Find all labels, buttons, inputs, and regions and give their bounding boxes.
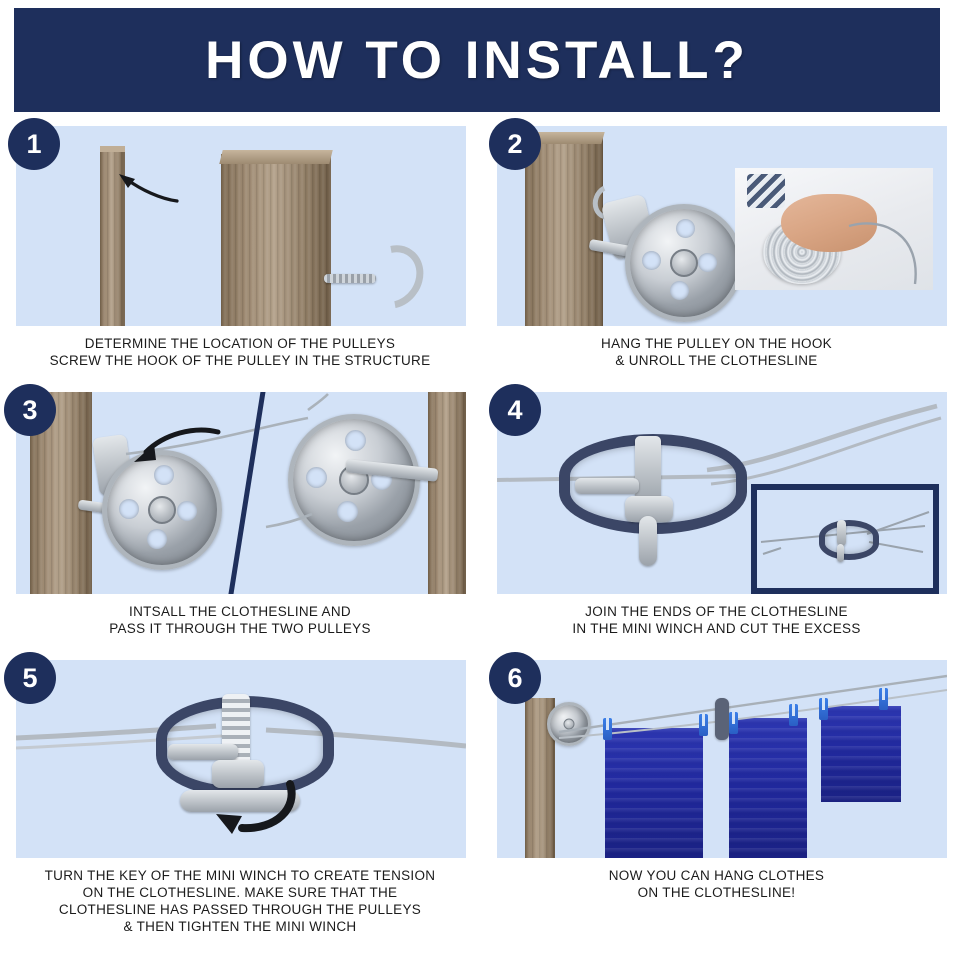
step-badge-2: 2: [489, 118, 541, 170]
step-1-caption: DETERMINE THE LOCATION OF THE PULLEYS SC…: [0, 326, 480, 369]
header-banner: HOW TO INSTALL?: [14, 8, 940, 112]
step-1-illustration: [16, 126, 466, 326]
step-3-caption: INTSALL THE CLOTHESLINE AND PASS IT THRO…: [0, 594, 480, 637]
clothes-peg: [879, 688, 888, 710]
inset-winch-key: [837, 544, 844, 562]
step-number-3: 3: [22, 395, 37, 426]
step-card-5: TURN THE KEY OF THE MINI WINCH TO CREATE…: [0, 660, 480, 935]
page-title: HOW TO INSTALL?: [205, 30, 749, 91]
clothes-peg: [789, 704, 798, 726]
main-post: [221, 154, 331, 326]
pulley-wheel: [625, 204, 743, 322]
step-2-illustration: [497, 126, 947, 326]
post: [525, 136, 603, 326]
clothes-peg: [819, 698, 828, 720]
step-badge-5: 5: [4, 652, 56, 704]
step-badge-1: 1: [8, 118, 60, 170]
inset-winch-shaft: [837, 520, 846, 546]
winch-detail-inset-photo: [751, 484, 939, 594]
wire-strand: [845, 192, 933, 288]
rotation-arrow-icon: [198, 778, 308, 844]
step-card-4: JOIN THE ENDS OF THE CLOTHESLINE IN THE …: [480, 392, 953, 637]
step-number-1: 1: [26, 129, 41, 160]
sleeve: [747, 174, 785, 208]
pointer-arrow-icon: [126, 422, 222, 470]
step-number-2: 2: [507, 129, 522, 160]
clothes-peg: [699, 714, 708, 736]
step-badge-3: 3: [4, 384, 56, 436]
step-2-caption: HANG THE PULLEY ON THE HOOK & UNROLL THE…: [480, 326, 953, 369]
step-badge-6: 6: [489, 652, 541, 704]
pulley-hole: [670, 281, 689, 300]
step-5-illustration: [16, 660, 466, 858]
winch-lever: [575, 478, 639, 494]
far-post-top: [100, 146, 125, 152]
step-card-6: NOW YOU CAN HANG CLOTHES ON THE CLOTHESL…: [480, 660, 953, 935]
clothesline-wire: [16, 392, 466, 594]
step-card-2: HANG THE PULLEY ON THE HOOK & UNROLL THE…: [480, 126, 953, 369]
step-4-illustration: [497, 392, 947, 594]
clothes-peg: [729, 712, 738, 734]
step-3-illustration: [16, 392, 466, 594]
step-number-6: 6: [507, 663, 522, 694]
pulley-hole: [698, 253, 717, 272]
step-4-caption: JOIN THE ENDS OF THE CLOTHESLINE IN THE …: [480, 594, 953, 637]
pulley-hole: [676, 219, 695, 238]
step-row-1: DETERMINE THE LOCATION OF THE PULLEYS SC…: [0, 126, 953, 369]
clothes-peg: [603, 718, 612, 740]
winch-lever: [168, 744, 238, 760]
step-badge-4: 4: [489, 384, 541, 436]
winch-shaft: [635, 436, 661, 504]
step-card-3: INTSALL THE CLOTHESLINE AND PASS IT THRO…: [0, 392, 480, 637]
step-6-caption: NOW YOU CAN HANG CLOTHES ON THE CLOTHESL…: [480, 858, 953, 901]
step-number-4: 4: [507, 395, 522, 426]
step-6-illustration: [497, 660, 947, 858]
step-row-2: INTSALL THE CLOTHESLINE AND PASS IT THRO…: [0, 392, 953, 637]
pulley-hub: [670, 249, 698, 277]
step-5-caption: TURN THE KEY OF THE MINI WINCH TO CREATE…: [0, 858, 480, 935]
step-row-3: TURN THE KEY OF THE MINI WINCH TO CREATE…: [0, 660, 953, 935]
wire-unroll-inset-photo: [735, 168, 933, 290]
pulley-hole: [642, 251, 661, 270]
pointer-arrow-icon: [111, 166, 181, 206]
step-card-1: DETERMINE THE LOCATION OF THE PULLEYS SC…: [0, 126, 480, 369]
main-post-top: [219, 150, 332, 164]
inset-winch-body: [819, 520, 879, 560]
line-clamp: [715, 698, 729, 740]
screw-hook: [350, 233, 435, 320]
steps-grid: DETERMINE THE LOCATION OF THE PULLEYS SC…: [0, 126, 953, 935]
winch-key: [639, 516, 657, 566]
step-number-5: 5: [22, 663, 37, 694]
